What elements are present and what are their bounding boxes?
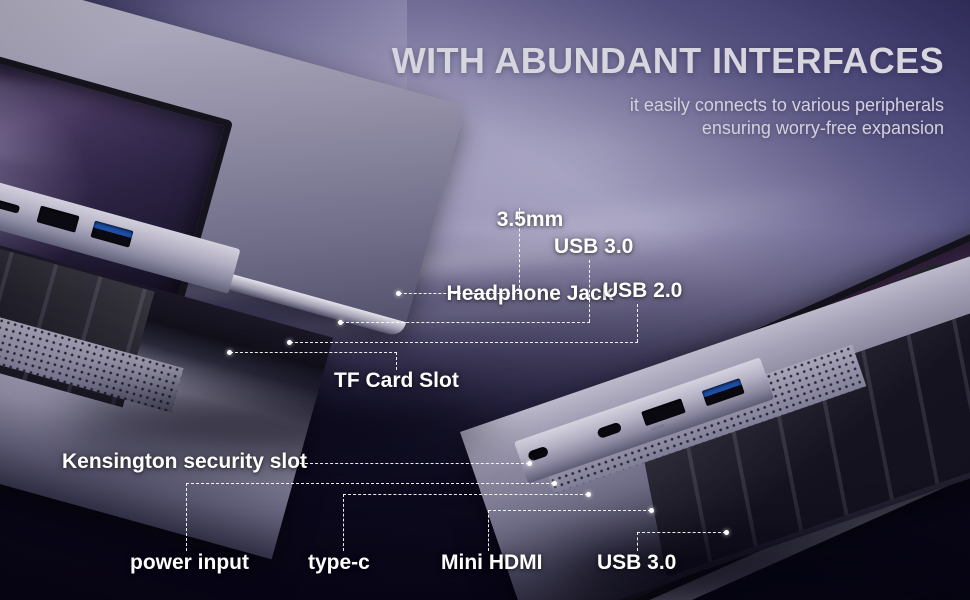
marker-dot-headphone-jack xyxy=(396,291,401,296)
callout-label-mini-hdmi: Mini HDMI xyxy=(441,551,542,576)
callout-label-usb-3-0-left: USB 3.0 xyxy=(554,235,633,260)
page-subtitle: it easily connects to various peripheral… xyxy=(630,94,944,141)
subtitle-line-1: it easily connects to various peripheral… xyxy=(630,94,944,117)
callout-label-kensington-security-slot: Kensington security slot xyxy=(62,450,307,475)
subtitle-line-2: ensuring worry-free expansion xyxy=(630,117,944,140)
marker-dot-type-c xyxy=(586,492,591,497)
callout-line-1: 3.5mm xyxy=(440,208,620,233)
marker-dot-usb-3-0-right xyxy=(724,530,729,535)
callout-label-tf-card-slot: TF Card Slot xyxy=(334,369,459,394)
marker-dot-kensington-security-slot xyxy=(527,461,532,466)
marker-dot-mini-hdmi xyxy=(649,508,654,513)
callout-line-2: Headphone Jack xyxy=(440,282,620,307)
marker-dot-usb-2-0 xyxy=(287,340,292,345)
marker-dot-power-input xyxy=(552,481,557,486)
callout-label-usb-3-0-right: USB 3.0 xyxy=(597,551,676,576)
marker-dot-usb-3-0-left xyxy=(338,320,343,325)
page-title: WITH ABUNDANT INTERFACES xyxy=(392,40,944,82)
product-feature-image: HDMI WITH ABUNDANT INTERFACES it easily … xyxy=(0,0,970,600)
callout-label-usb-2-0: USB 2.0 xyxy=(603,279,682,304)
callout-label-power-input: power input xyxy=(130,551,249,576)
marker-dot-tf-card-slot xyxy=(227,350,232,355)
callout-label-type-c: type-c xyxy=(308,551,370,576)
